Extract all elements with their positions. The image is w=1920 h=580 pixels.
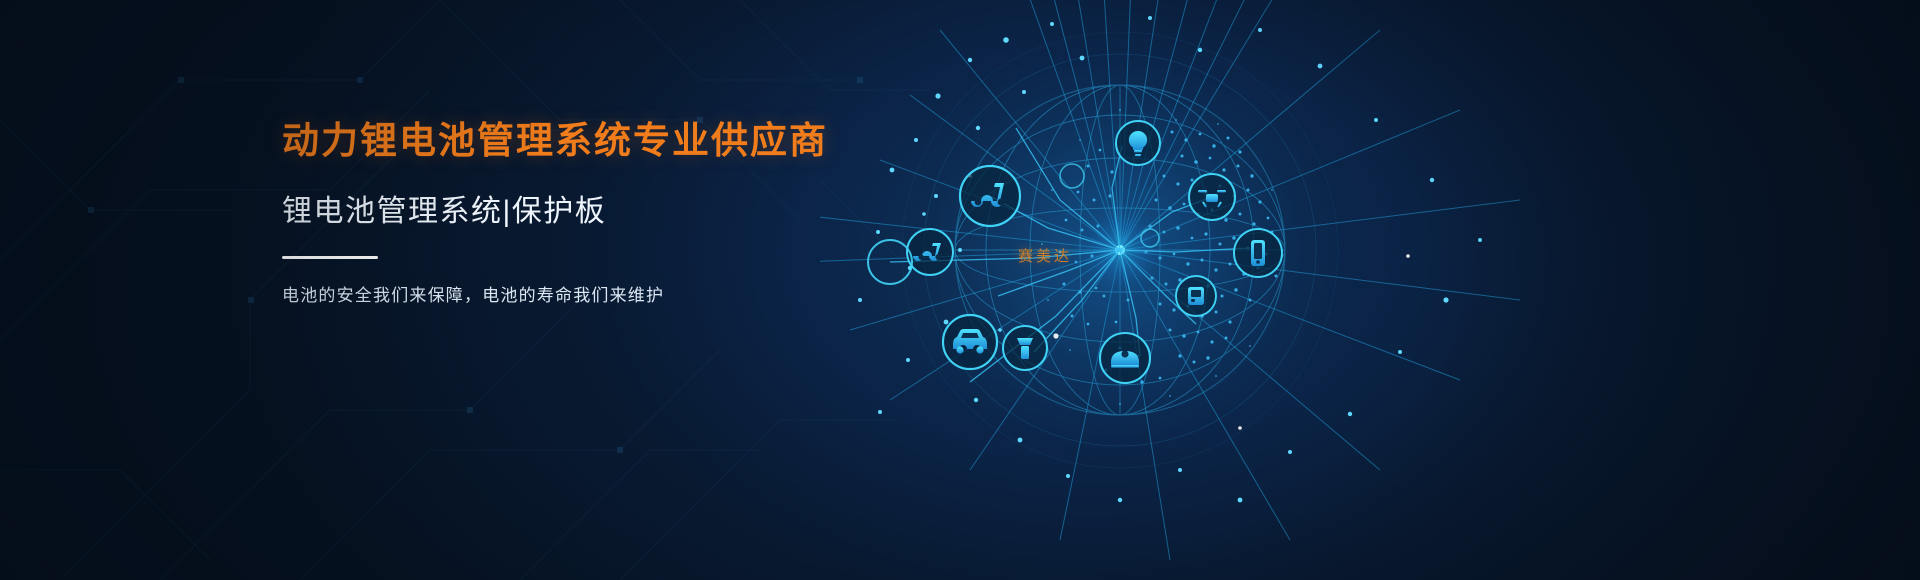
- hero-banner: 赛美达 动力锂电池管理系统专业供应商 锂电池管理系统|保护板 电池的安全我们来保…: [0, 0, 1920, 580]
- divider-rule: [282, 256, 378, 259]
- node-scooter: [960, 166, 1020, 226]
- banner-tagline: 电池的安全我们来保障，电池的寿命我们来维护: [282, 281, 902, 306]
- node-car: [943, 315, 997, 369]
- node-torch: [1003, 326, 1047, 370]
- network-globe-graphic: [820, 0, 1540, 580]
- banner-subtitle: 锂电池管理系统|保护板: [282, 186, 902, 230]
- node-ebike: [907, 229, 953, 275]
- node-controller: [1176, 276, 1216, 316]
- node-battery-pack: [1234, 229, 1282, 277]
- node-drone: [1189, 174, 1235, 220]
- node-lightbulb: [1116, 121, 1160, 165]
- banner-headline: 动力锂电池管理系统专业供应商: [282, 118, 902, 164]
- node-robot-vacuum: [1100, 333, 1150, 383]
- banner-copy: 动力锂电池管理系统专业供应商 锂电池管理系统|保护板 电池的安全我们来保障，电池…: [282, 118, 902, 306]
- globe-brand-label: 赛美达: [1018, 245, 1072, 266]
